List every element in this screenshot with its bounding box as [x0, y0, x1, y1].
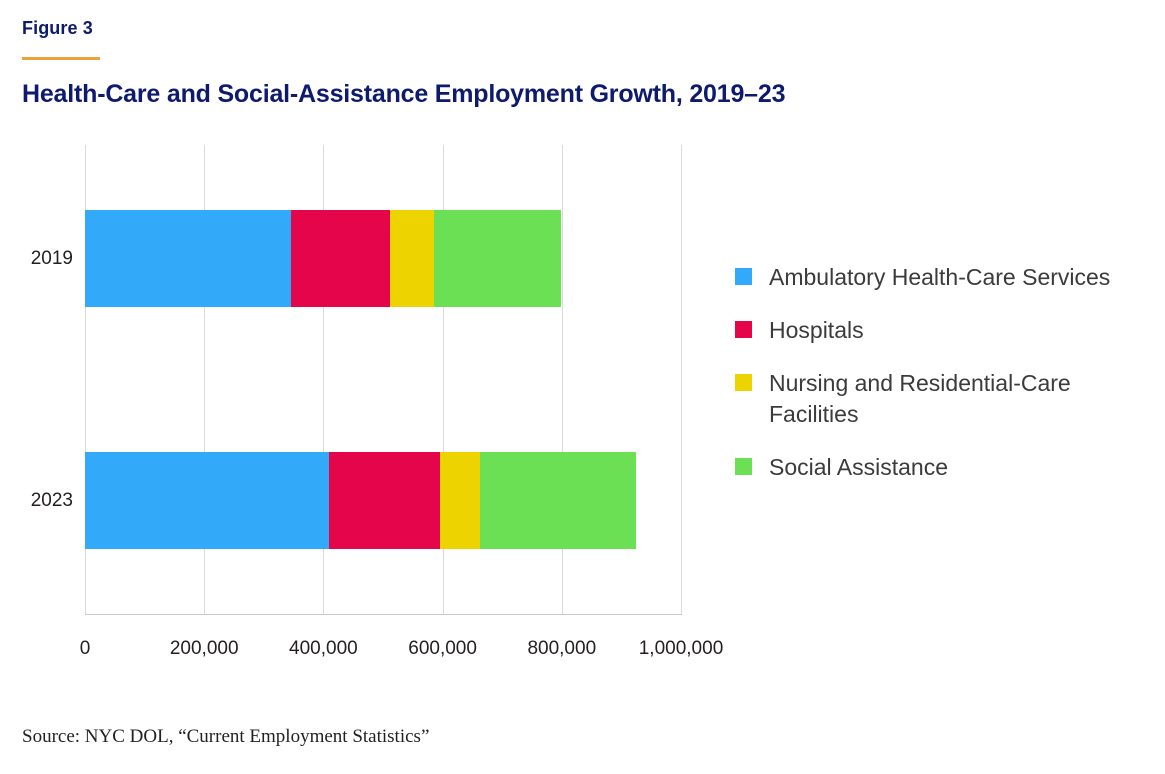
x-axis-line	[85, 614, 682, 615]
chart-legend: Ambulatory Health-Care ServicesHospitals…	[735, 262, 1145, 505]
legend-item-label: Ambulatory Health-Care Services	[769, 262, 1110, 293]
x-tick-label: 1,000,000	[639, 638, 724, 660]
legend-item[interactable]: Ambulatory Health-Care Services	[735, 262, 1145, 293]
legend-item[interactable]: Nursing and Residential-Care Facilities	[735, 368, 1145, 430]
legend-item[interactable]: Hospitals	[735, 315, 1145, 346]
bar-segment	[434, 210, 561, 307]
legend-item[interactable]: Social Assistance	[735, 452, 1145, 483]
legend-swatch-social	[735, 458, 752, 475]
x-tick-label: 800,000	[527, 638, 596, 660]
legend-item-label: Social Assistance	[769, 452, 948, 483]
bar-row-2023	[85, 452, 681, 549]
gridline-1000000	[681, 145, 682, 615]
legend-swatch-ambulatory	[735, 268, 752, 285]
legend-item-label: Hospitals	[769, 315, 864, 346]
legend-swatch-nursing	[735, 374, 752, 391]
bar-segment	[390, 210, 434, 307]
bar-segment	[291, 210, 390, 307]
category-label-2019: 2019	[0, 248, 73, 270]
bar-segment	[480, 452, 636, 549]
category-label-2023: 2023	[0, 490, 73, 512]
bar-segment	[85, 210, 291, 307]
legend-item-label: Nursing and Residential-Care Facilities	[769, 368, 1129, 430]
bar-row-2019	[85, 210, 681, 307]
x-tick-label: 600,000	[408, 638, 477, 660]
legend-swatch-hospitals	[735, 321, 752, 338]
x-tick-label: 400,000	[289, 638, 358, 660]
bar-segment	[440, 452, 480, 549]
plot-area	[85, 145, 681, 615]
x-tick-label: 200,000	[170, 638, 239, 660]
source-note: Source: NYC DOL, “Current Employment Sta…	[22, 726, 429, 748]
x-tick-label: 0	[80, 638, 91, 660]
bar-segment	[85, 452, 329, 549]
bar-segment	[329, 452, 439, 549]
